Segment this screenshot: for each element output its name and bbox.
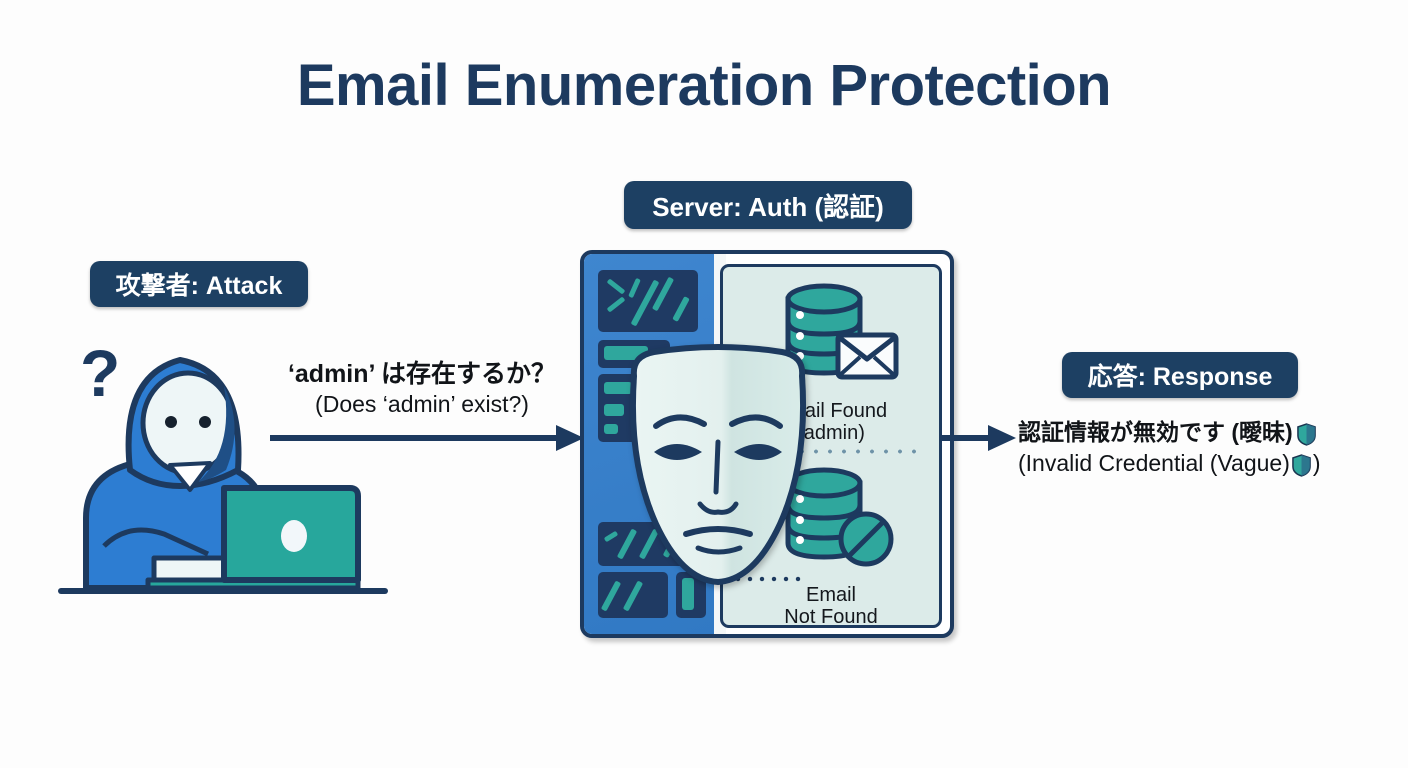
query-english: (Does ‘admin’ exist?) — [272, 391, 572, 419]
server-box: Email Found (admin) — [580, 250, 954, 638]
anonymous-mask-icon — [620, 342, 816, 588]
page-title: Email Enumeration Protection — [0, 52, 1408, 119]
response-english-suffix: ) — [1313, 449, 1321, 478]
response-badge-label: 応答: Response — [1088, 357, 1273, 393]
response-text: 認証情報が無効です (曖昧) (Invalid Credential (Vagu… — [1018, 418, 1398, 478]
query-japanese: ‘admin’ は存在するか？ — [272, 360, 572, 389]
question-mark-icon: ? — [80, 336, 120, 410]
response-japanese-row: 認証情報が無効です (曖昧) — [1018, 418, 1398, 447]
response-english-prefix: (Invalid Credential (Vague) — [1018, 449, 1290, 478]
response-english-row: (Invalid Credential (Vague) ) — [1018, 449, 1398, 478]
attacker-badge: 攻撃者: Attack — [90, 261, 308, 307]
server-badge-label: Server: Auth (認証) — [652, 187, 884, 224]
db-notfound-label-2: Not Found — [723, 606, 939, 628]
eye-right — [199, 416, 211, 428]
response-arrow-icon — [940, 423, 1020, 453]
diagram-canvas: Email Enumeration Protection ? 攻撃者: At — [0, 0, 1408, 768]
envelope-icon — [838, 335, 896, 377]
request-arrow-icon — [268, 423, 588, 453]
shield-icon — [1292, 454, 1311, 477]
code-block-1 — [598, 270, 698, 332]
response-badge: 応答: Response — [1062, 352, 1298, 398]
shield-icon — [1297, 423, 1316, 446]
eye-left — [165, 416, 177, 428]
attacker-query-text: ‘admin’ は存在するか？ (Does ‘admin’ exist?) — [272, 360, 572, 418]
svg-text:?: ? — [80, 336, 120, 410]
prohibited-icon — [841, 514, 891, 564]
attacker-badge-label: 攻撃者: Attack — [116, 266, 283, 302]
server-badge: Server: Auth (認証) — [624, 181, 912, 229]
response-japanese: 認証情報が無効です (曖昧) — [1018, 418, 1293, 447]
